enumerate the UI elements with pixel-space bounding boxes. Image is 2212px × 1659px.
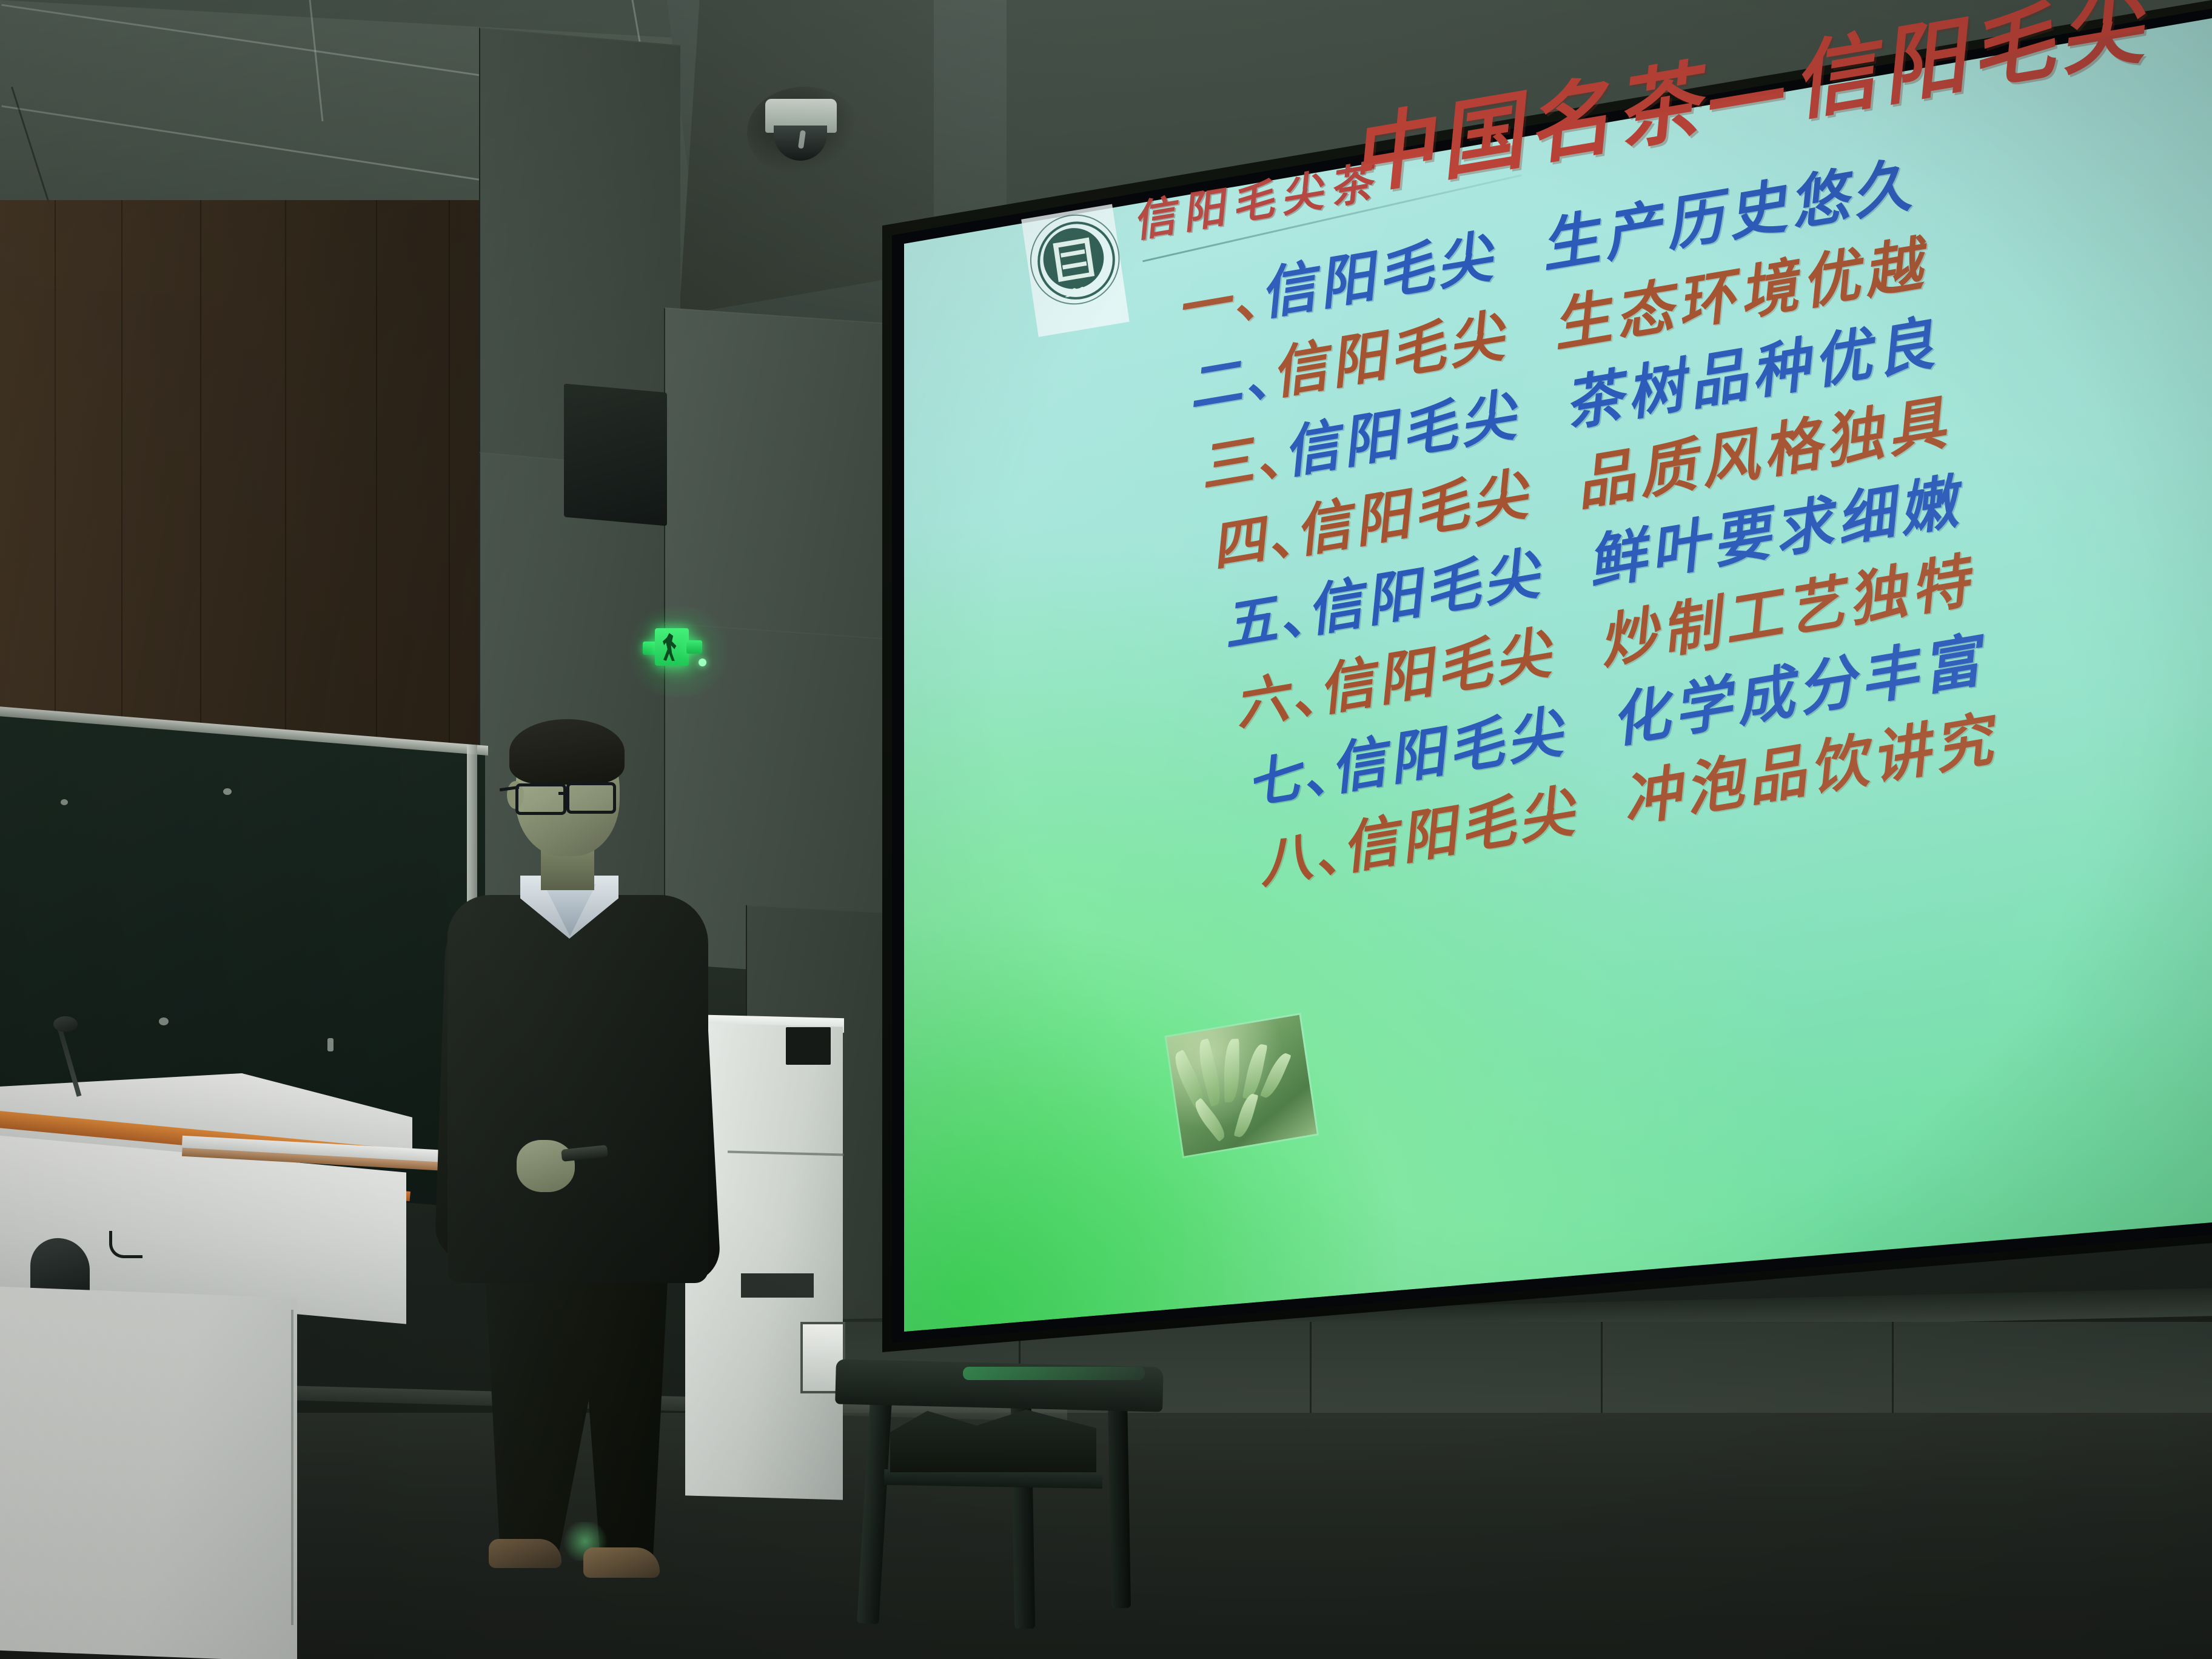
microphone-icon bbox=[53, 1016, 78, 1032]
tea-leaves-photo bbox=[1167, 1015, 1317, 1156]
presenter bbox=[418, 716, 734, 1577]
slide-item-number: 一、 bbox=[1170, 254, 1265, 344]
cable bbox=[109, 1231, 142, 1258]
slide-item-number: 七、 bbox=[1241, 729, 1336, 819]
av-cabinet-panel bbox=[741, 1273, 814, 1298]
slide-item-number: 三、 bbox=[1194, 412, 1289, 503]
slide-item-number: 四、 bbox=[1205, 491, 1301, 581]
slide-item-number: 八、 bbox=[1252, 808, 1347, 899]
slide-content: 1910 信阳毛尖茶 中国名茶—信阳毛尖 一、信阳毛尖生产历史悠久二、信阳毛尖生… bbox=[903, 0, 2212, 1236]
wall-speaker bbox=[564, 384, 667, 526]
slide-item-number: 六、 bbox=[1229, 650, 1324, 740]
wooden-stool bbox=[836, 1363, 1175, 1618]
eyeglasses-icon bbox=[515, 783, 566, 815]
slide-item-number: 五、 bbox=[1218, 571, 1313, 661]
av-cabinet-slot bbox=[786, 1027, 831, 1065]
university-logo: 1910 bbox=[1021, 204, 1130, 337]
wall-panel bbox=[664, 307, 890, 652]
dome-security-camera-icon bbox=[765, 99, 837, 162]
emergency-exit-sign-icon bbox=[643, 625, 711, 672]
lecture-hall-photo: 1910 信阳毛尖茶 中国名茶—信阳毛尖 一、信阳毛尖生产历史悠久二、信阳毛尖生… bbox=[0, 0, 2212, 1659]
slide-item-number: 二、 bbox=[1182, 333, 1278, 423]
